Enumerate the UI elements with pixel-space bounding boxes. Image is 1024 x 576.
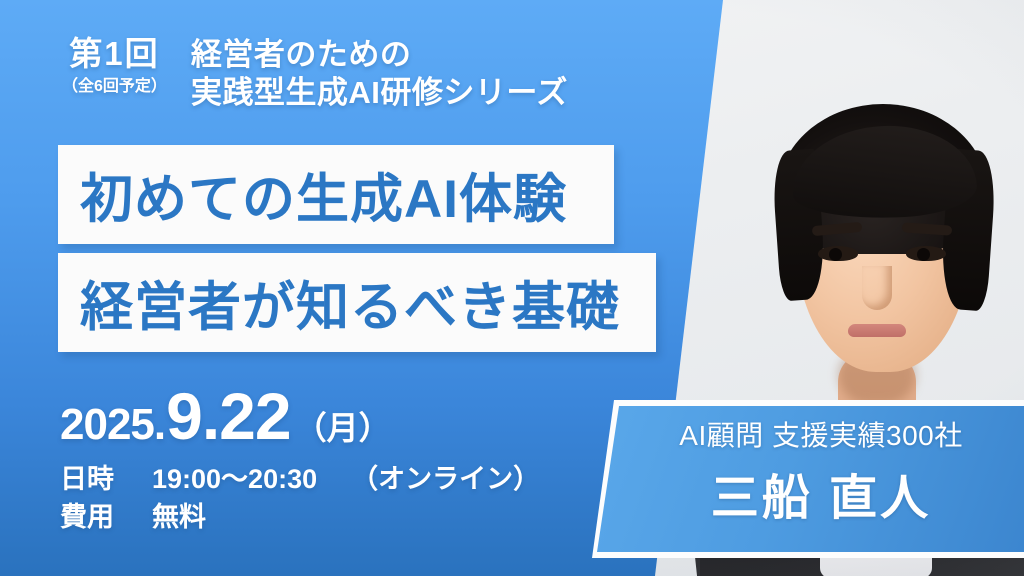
event-datetime-row: 日時 19:00〜20:30 （オンライン）	[60, 461, 540, 499]
event-fee-value: 無料	[152, 499, 206, 537]
main-title-text-1: 初めての生成AI体験	[58, 157, 567, 233]
episode-number: 第1回	[62, 37, 167, 70]
webinar-poster: 第1回 （全6回予定） 経営者のための 実践型生成AI研修シリーズ 初めての生成…	[0, 0, 1024, 576]
event-datetime-value: 19:00〜20:30	[152, 461, 317, 499]
event-date-year: 2025.	[60, 400, 165, 450]
nameplate-text-block: AI顧問 支援実績300社 三船 直人	[634, 414, 1008, 528]
event-datetime-label: 日時	[60, 461, 152, 499]
main-title-bar-2: 経営者が知るべき基礎	[58, 253, 656, 352]
speaker-name: 三船 直人	[634, 458, 1008, 528]
event-fee-row: 費用 無料	[60, 499, 540, 537]
main-title-text-2: 経営者が知るべき基礎	[58, 265, 620, 341]
event-date: 2025. 9.22 （月）	[60, 378, 391, 454]
poster-header: 第1回 （全6回予定） 経営者のための 実践型生成AI研修シリーズ	[62, 34, 568, 112]
series-title-line-2: 実践型生成AI研修シリーズ	[191, 74, 568, 112]
event-date-month-day: 9.22	[166, 378, 290, 454]
main-title-bar-1: 初めての生成AI体験	[58, 145, 614, 244]
episode-total-note: （全6回予定）	[62, 79, 167, 95]
speaker-nameplate: AI顧問 支援実績300社 三船 直人	[584, 400, 1024, 558]
episode-number-block: 第1回 （全6回予定）	[62, 34, 167, 95]
series-title-line-1: 経営者のための	[191, 36, 568, 74]
event-date-day-of-week: （月）	[295, 403, 391, 449]
event-format-value: （オンライン）	[351, 461, 540, 499]
series-title-block: 経営者のための 実践型生成AI研修シリーズ	[191, 34, 568, 112]
speaker-role: AI顧問 支援実績300社	[634, 414, 1008, 454]
event-fee-label: 費用	[60, 499, 152, 537]
event-info-block: 日時 19:00〜20:30 （オンライン） 費用 無料	[60, 461, 540, 537]
